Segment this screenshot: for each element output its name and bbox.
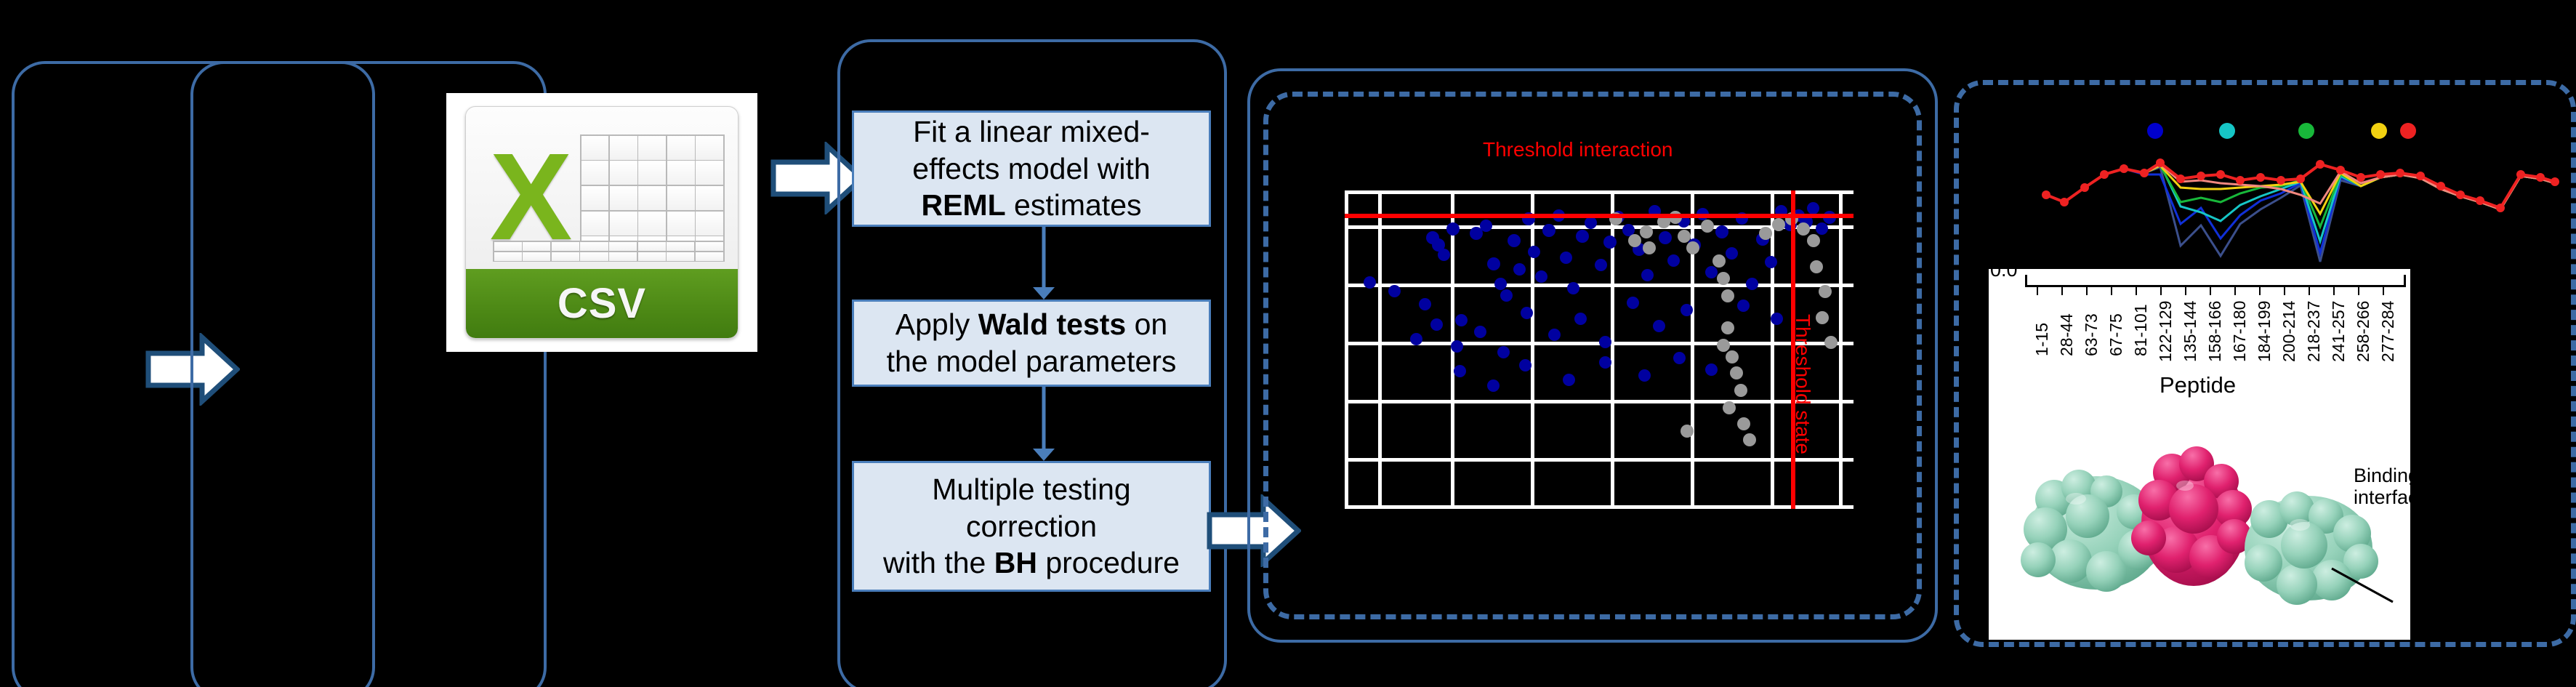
bh-line2: correction [966, 510, 1097, 543]
legend-dot-red [2400, 123, 2416, 139]
peptide-tick-label: 241-257 [2329, 301, 2348, 362]
wald-tests-bold: Wald tests [978, 308, 1127, 341]
fit-model-line1: Fit a linear mixed- [913, 115, 1150, 148]
peptide-tick-label: 258-266 [2354, 301, 2373, 362]
scatter-plot-area [1345, 190, 1853, 509]
wald-line1-pre: Apply [895, 308, 978, 341]
csv-file-icon: X CSV [446, 93, 757, 352]
legend-dot-cyan [2219, 123, 2235, 139]
connector-wald-to-bh [1031, 387, 1056, 461]
bh-correction-box: Multiple testing correction with the BH … [852, 461, 1211, 592]
connector-fit-to-wald [1031, 227, 1056, 300]
peptide-line-chart [1963, 116, 2566, 284]
y-axis-tick-0: 0.0 [1990, 269, 2018, 281]
peptide-tick-label: 28-44 [2057, 313, 2077, 356]
fit-model-box: Fit a linear mixed- effects model with R… [852, 111, 1211, 227]
peptide-tick-label: 122-129 [2156, 301, 2175, 362]
line-chart-svg [1963, 116, 2566, 284]
protein-structure-image [2003, 406, 2396, 624]
wald-line2: the model parameters [887, 345, 1177, 378]
peptide-tick-label: 277-284 [2378, 301, 2398, 362]
wald-line1-post: on [1126, 308, 1167, 341]
peptide-tick-label: 67-75 [2106, 313, 2126, 356]
bh-line3-pre: with the [883, 546, 994, 579]
peptide-tick-label: 167-180 [2230, 301, 2250, 362]
bh-line3-post: procedure [1037, 546, 1180, 579]
fit-model-reml: REML [922, 188, 1006, 222]
threshold-interaction-label: Threshold interaction [1483, 138, 1673, 161]
csv-format-band: CSV [466, 269, 738, 339]
x-axis-right-cap [2404, 275, 2406, 286]
peptide-tick-label: 200-214 [2279, 301, 2299, 362]
legend-dot-green [2298, 123, 2314, 139]
binding-interface-annotation: Binding interface [2354, 465, 2410, 508]
peptide-tick-label: 184-199 [2255, 301, 2274, 362]
peptide-tick-label: 158-166 [2205, 301, 2225, 362]
legend-dot-blue [2147, 123, 2163, 139]
peptide-tick-label: 1-15 [2032, 323, 2052, 356]
results-card: 0.0 1-15 28-44 63-73 67-75 81-101 122-12… [1989, 269, 2410, 640]
fit-model-line3-post: estimates [1006, 188, 1142, 222]
fit-model-line2: effects model with [912, 152, 1150, 185]
peptide-tick-label: 81-101 [2131, 304, 2151, 356]
flowchart-diagram: X CSV Fit a linear mixed- [0, 0, 2576, 687]
bh-line1: Multiple testing [932, 473, 1130, 506]
x-axis-line [2025, 285, 2406, 287]
legend-dot-yellow [2371, 123, 2387, 139]
x-axis-title: Peptide [2160, 372, 2236, 398]
scatter-plot: Threshold interaction [1345, 145, 1853, 523]
peptide-tick-label: 63-73 [2082, 313, 2101, 356]
csv-spreadsheet-grid-lower [493, 241, 724, 262]
bh-bold: BH [994, 546, 1037, 579]
threshold-state-label: Threshold state [1791, 314, 1814, 454]
wald-tests-box: Apply Wald tests on the model parameters [852, 300, 1211, 387]
peptide-tick-label: 135-144 [2181, 301, 2200, 362]
x-axis-left-cap [2025, 275, 2027, 286]
csv-format-label: CSV [558, 279, 646, 328]
peptide-tick-label: 218-237 [2304, 301, 2324, 362]
